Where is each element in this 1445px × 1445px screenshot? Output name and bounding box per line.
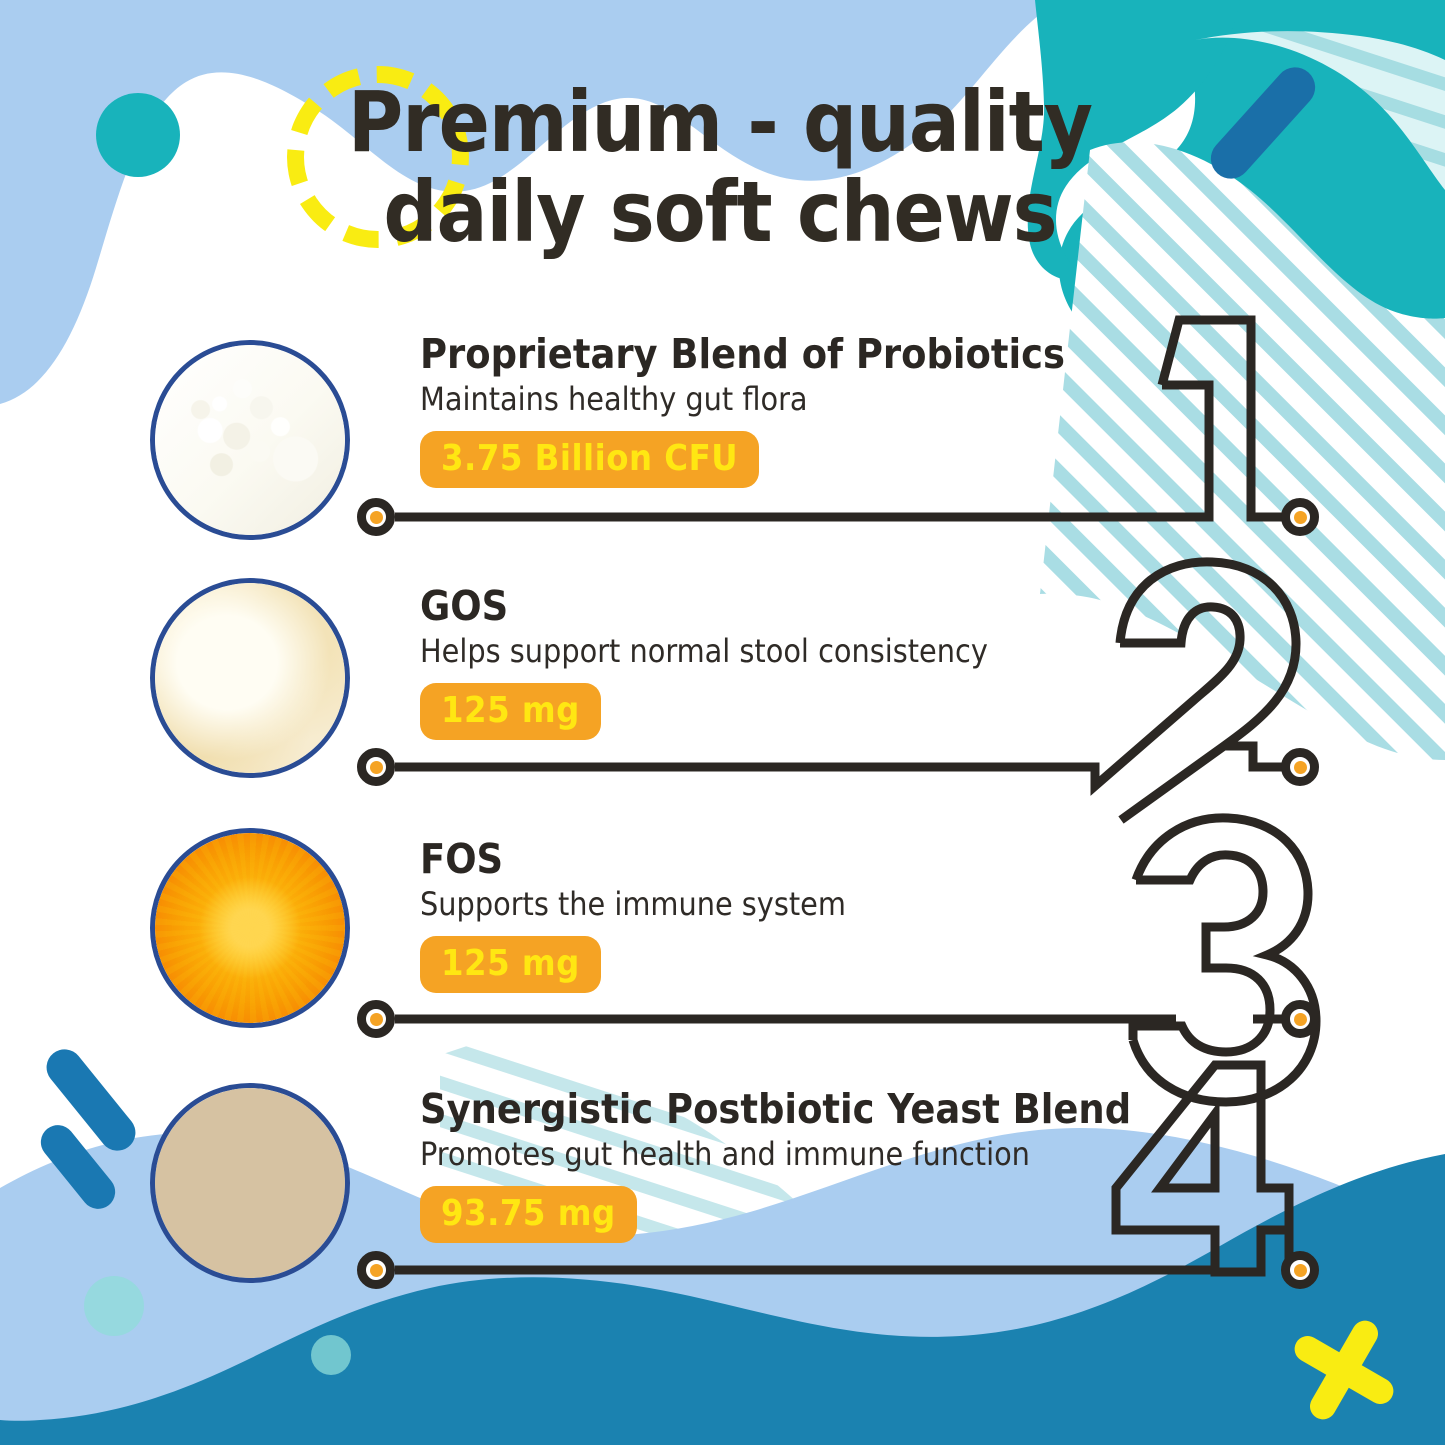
- ingredient-photo-3: [150, 828, 350, 1028]
- connector-dot-right-3: [1281, 1000, 1319, 1038]
- number-outline-3: [1133, 818, 1316, 1102]
- pale-teal-circle-bottom-left-1: [84, 1276, 144, 1336]
- connector-dot-left-3: [357, 1000, 395, 1038]
- ingredient-subtitle-1: Maintains healthy gut flora: [420, 382, 1065, 417]
- blue-capsule-bottom-left-1: [39, 1042, 142, 1158]
- page-title-line-1: Premium - quality: [300, 78, 1140, 168]
- ingredient-photo-1: [150, 340, 350, 540]
- connector-dot-right-1: [1281, 498, 1319, 536]
- infographic-canvas: Premium - quality daily soft chews: [0, 0, 1445, 1445]
- ingredient-title-3: FOS: [420, 838, 846, 881]
- ingredient-amount-badge-2: 125 mg: [420, 683, 601, 740]
- ingredient-subtitle-4: Promotes gut health and immune function: [420, 1137, 1131, 1172]
- page-title: Premium - quality daily soft chews: [300, 78, 1140, 258]
- ingredient-text-4: Synergistic Postbiotic Yeast Blend Promo…: [420, 1088, 1131, 1243]
- connector-dot-right-4: [1281, 1251, 1319, 1289]
- connector-dot-left-2: [357, 748, 395, 786]
- ingredient-amount-badge-1: 3.75 Billion CFU: [420, 431, 759, 488]
- ingredient-text-3: FOS Supports the immune system 125 mg: [420, 838, 846, 993]
- ingredient-text-2: GOS Helps support normal stool consisten…: [420, 585, 988, 740]
- connector-dot-left-4: [357, 1251, 395, 1289]
- ingredient-photo-4: [150, 1083, 350, 1283]
- ingredient-amount-badge-3: 125 mg: [420, 936, 601, 993]
- yellow-cross-bottom-right: [1290, 1316, 1398, 1424]
- ingredient-title-4: Synergistic Postbiotic Yeast Blend: [420, 1088, 1131, 1131]
- page-title-line-2: daily soft chews: [300, 168, 1140, 258]
- teal-circle-top-left: [96, 93, 180, 177]
- pale-teal-circle-bottom-left-2: [311, 1335, 351, 1375]
- number-outline-1: [1162, 320, 1299, 517]
- connector-dot-right-2: [1281, 748, 1319, 786]
- number-outline-4: [1116, 1065, 1289, 1272]
- ingredient-title-1: Proprietary Blend of Probiotics: [420, 333, 1065, 376]
- ingredient-amount-badge-4: 93.75 mg: [420, 1186, 637, 1243]
- connector-dot-left-1: [357, 498, 395, 536]
- blue-capsule-top-right: [1203, 59, 1324, 187]
- ingredient-photo-2: [150, 578, 350, 778]
- ingredient-subtitle-2: Helps support normal stool consistency: [420, 634, 988, 669]
- ingredient-subtitle-3: Supports the immune system: [420, 887, 846, 922]
- ingredient-text-1: Proprietary Blend of Probiotics Maintain…: [420, 333, 1065, 488]
- blue-capsule-bottom-left-2: [34, 1118, 122, 1216]
- diagonal-stripes-top-right-2: [1195, 31, 1445, 190]
- ingredient-title-2: GOS: [420, 585, 988, 628]
